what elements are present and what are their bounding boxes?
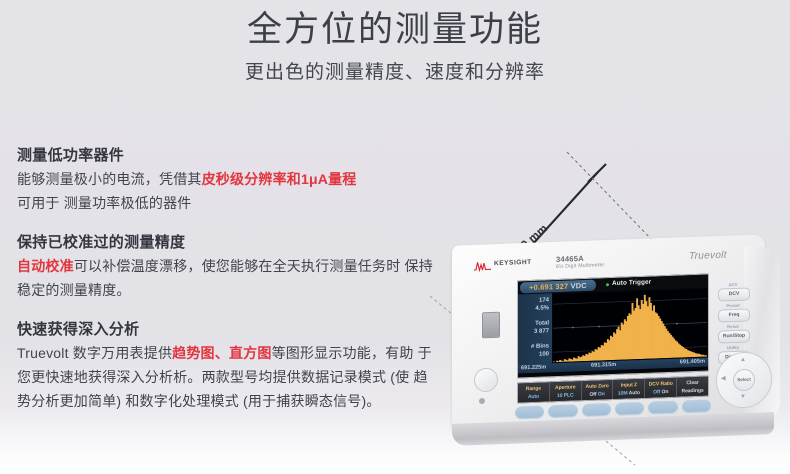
feature-body-post: 可用于 测量功率极低的器件 (17, 195, 192, 211)
softkey-value: Off (653, 389, 660, 395)
feature-block-autocal: 保持已校准过的测量精度 自动校准可以补偿温度漂移，使您能够在全天执行测量任务时 … (17, 232, 437, 302)
histogram-plot (553, 289, 707, 363)
softkey-value-alt: Auto (629, 390, 640, 396)
stat-bins: # Bins 100 (531, 343, 549, 359)
softkey-label: Clear (686, 380, 698, 386)
softkey-dcv-ratio[interactable]: DCV Ratio Off On (645, 378, 677, 398)
softkey-auto-zero[interactable]: Auto Zero Off On (582, 380, 614, 400)
feature-block-insight: 快速获得深入分析 Truevolt 数字万用表提供趋势图、直方图等图形显示功能，… (17, 319, 437, 413)
device-figure: 4.3 in. / 109 mm KEYSIGHT 34465A 6½ Digi… (430, 130, 790, 474)
promo-page: 全方位的测量功能 更出色的测量精度、速度和分辨率 测量低功率器件 能够测量极小的… (0, 0, 790, 474)
truevolt-logo: Truevolt (689, 250, 727, 262)
softkey-value: Auto (528, 394, 539, 400)
model-subtitle: 6½ Digit Multimeter (556, 262, 604, 270)
chevron-left-icon[interactable]: ◀ (721, 376, 726, 382)
stat-total-value: 3 877 (534, 328, 549, 335)
softkey-button[interactable] (648, 401, 677, 415)
page-title: 全方位的测量功能 (0, 8, 790, 52)
softkey-range[interactable]: Range Auto (518, 382, 550, 402)
softkey-button[interactable] (582, 403, 611, 417)
softkey-aperture[interactable]: Aperture 10 PLC (550, 381, 582, 401)
softkey-value-alt: On (598, 391, 605, 397)
feature-body-post: 可以补偿温度漂移，使您能够在全天执行测量任务时 保持稳定的测量精度。 (17, 258, 433, 298)
feature-body-highlight: 自动校准 (17, 258, 74, 274)
softkey-clear-readings[interactable]: Clear Readings (677, 377, 708, 397)
stat-percent-value: 4.5% (535, 305, 549, 312)
brand-name: KEYSIGHT (494, 259, 532, 267)
x-tick-label: 691.225m (521, 363, 546, 373)
stat-count-value: 174 (539, 297, 549, 303)
trigger-status-label: Auto Trigger (612, 279, 651, 287)
softkey-value: 10 PLC (557, 392, 574, 399)
usb-port (482, 312, 500, 339)
softkey-label: Input Z (621, 382, 637, 389)
softkey-label: DCV Ratio (649, 381, 673, 388)
stat-bins-label: # Bins (531, 343, 549, 350)
chevron-down-icon[interactable]: ▼ (740, 394, 746, 400)
x-tick-label: 691.315m (591, 361, 616, 371)
instrument-display[interactable]: +0.691 327 VDC Auto Trigger 174 4.5% Tot… (517, 273, 709, 378)
softkey-button[interactable] (682, 399, 711, 413)
softkey-label: Aperture (555, 384, 575, 391)
feature-block-low-power: 测量低功率器件 能够测量极小的电流，凭借其皮秒级分辨率和1μA量程 可用于 测量… (17, 145, 437, 215)
softkey-label: Auto Zero (585, 383, 608, 390)
softkey-value-alt: On (661, 389, 668, 395)
page-subtitle: 更出色的测量精度、速度和分辨率 (0, 60, 790, 86)
feature-body: 能够测量极小的电流，凭借其皮秒级分辨率和1μA量程 可用于 测量功率极低的器件 (17, 167, 437, 215)
reading-value: +0.691 327 (529, 282, 568, 292)
function-button-freq[interactable]: Freq (718, 308, 750, 322)
softkey-label: Range (526, 386, 541, 393)
feature-heading: 保持已校准过的测量精度 (17, 232, 437, 254)
histogram-svg (553, 289, 707, 363)
feature-heading: 测量低功率器件 (17, 145, 437, 167)
softkey-button[interactable] (515, 406, 544, 420)
chevron-up-icon[interactable]: ▲ (740, 357, 746, 363)
feature-body: 自动校准可以补偿温度漂移，使您能够在全天执行测量任务时 保持稳定的测量精度。 (17, 254, 437, 302)
feature-body-pre: 能够测量极小的电流，凭借其 (17, 171, 202, 187)
navigation-pad: ▲ ▼ ◀ Select (716, 351, 774, 411)
x-tick-label: 691.405m (680, 358, 705, 368)
reading-unit: VDC (571, 281, 587, 291)
softkey-value: Off (589, 392, 596, 398)
stat-total-label: Total (535, 320, 549, 327)
softkey-value: 10M (618, 390, 628, 396)
feature-body-highlight: 趋势图、直方图 (172, 345, 271, 361)
stat-total: Total 3 877 (534, 320, 549, 336)
feature-copy-column: 测量低功率器件 能够测量极小的电流，凭借其皮秒级分辨率和1μA量程 可用于 测量… (17, 145, 437, 413)
page-header: 全方位的测量功能 更出色的测量精度、速度和分辨率 (0, 8, 790, 86)
stat-count: 174 4.5% (535, 297, 549, 313)
keysight-wave-icon (474, 260, 491, 272)
feature-body-pre: Truevolt 数字万用表提供 (17, 345, 172, 361)
softkey-button[interactable] (615, 402, 644, 416)
digital-multimeter: KEYSIGHT 34465A 6½ Digit Multimeter True… (452, 240, 782, 445)
feature-heading: 快速获得深入分析 (17, 319, 437, 341)
function-button-run-stop[interactable]: Run/Stop (718, 329, 750, 343)
stat-bins-value: 100 (539, 351, 549, 357)
histogram-stats-panel: 174 4.5% Total 3 877 # Bins 100 (518, 293, 552, 364)
softkey-value: Readings (681, 388, 703, 395)
feature-body-highlight: 皮秒级分辨率和1μA量程 (202, 171, 357, 187)
function-button-dcv[interactable]: DCV (718, 287, 750, 301)
softkey-input-z[interactable]: Input Z 10M Auto (613, 379, 645, 399)
feature-body: Truevolt 数字万用表提供趋势图、直方图等图形显示功能，有助 于您更快速地… (17, 341, 437, 413)
softkey-button[interactable] (548, 404, 577, 418)
